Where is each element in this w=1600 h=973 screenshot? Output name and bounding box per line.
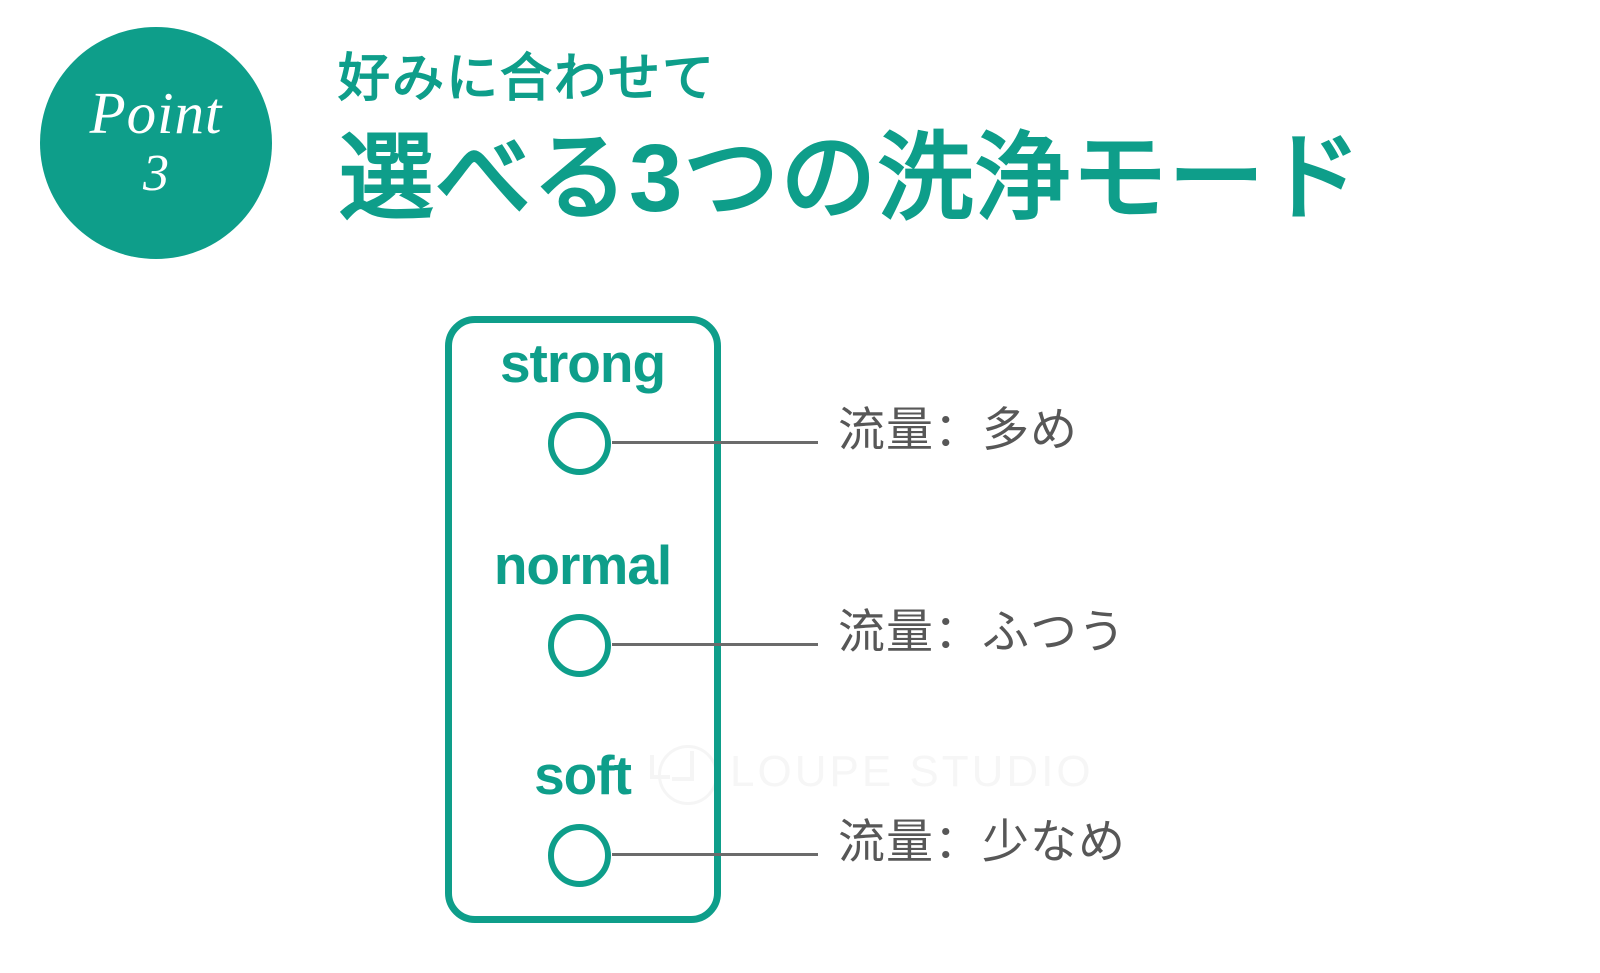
header-subtitle: 好みに合わせて — [338, 36, 716, 111]
watermark-text: LOUPE STUDIO — [730, 747, 1094, 797]
flow-annotation-normal: 流量：ふつう — [838, 608, 1126, 655]
flow-annotation-strong: 流量：多め — [838, 406, 1078, 453]
leader-line — [612, 441, 818, 444]
mode-button-strong[interactable] — [548, 412, 611, 475]
mode-button-normal[interactable] — [548, 614, 611, 677]
mode-label-normal: normal — [470, 538, 695, 593]
point-badge: Point 3 — [40, 27, 272, 259]
page-title: 選べる3つの洗浄モード — [338, 122, 1362, 235]
poster-canvas: Point 3 好みに合わせて 選べる3つの洗浄モード LOUPE STUDIO… — [0, 0, 1600, 973]
leader-line — [612, 853, 818, 856]
mode-label-strong: strong — [470, 336, 695, 391]
mode-label-soft: soft — [470, 748, 695, 803]
leader-line — [612, 643, 818, 646]
point-badge-word: Point — [90, 85, 223, 143]
flow-annotation-soft: 流量：少なめ — [838, 818, 1126, 865]
mode-button-soft[interactable] — [548, 824, 611, 887]
point-badge-number: 3 — [143, 147, 169, 202]
